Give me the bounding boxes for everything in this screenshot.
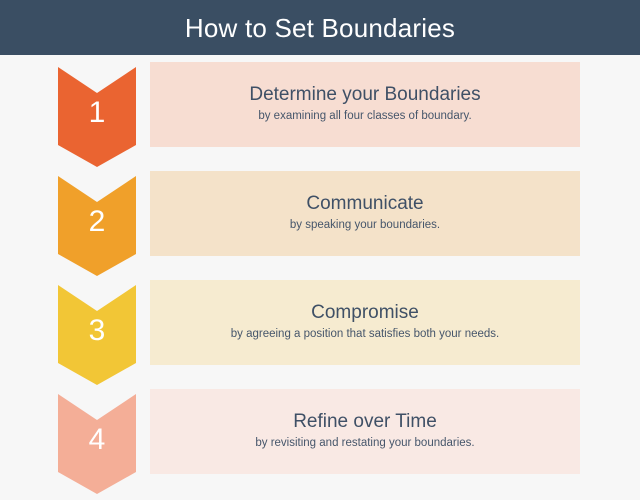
step-panel: Communicate by speaking your boundaries. [150,171,580,256]
chevron-shape [58,67,136,167]
chevron-icon [58,176,136,276]
step-title: Compromise [301,303,429,324]
chevron-shape [58,285,136,385]
step-row: 4 Refine over Time by revisiting and res… [0,382,640,491]
page-title: How to Set Boundaries [185,15,455,41]
chevron-icon [58,67,136,167]
step-subtitle: by revisiting and restating your boundar… [245,437,484,451]
infographic-root: How to Set Boundaries 1 Determine your B… [0,0,640,500]
chevron-icon [58,394,136,494]
step-title: Determine your Boundaries [239,85,490,106]
step-panel: Compromise by agreeing a position that s… [150,280,580,365]
step-title: Communicate [296,194,433,215]
step-title: Refine over Time [283,412,447,433]
step-subtitle: by examining all four classes of boundar… [248,110,481,124]
step-marker-chevron: 2 [58,176,136,276]
header-bar: How to Set Boundaries [0,0,640,55]
step-marker-chevron: 1 [58,67,136,167]
step-panel: Refine over Time by revisiting and resta… [150,389,580,474]
step-subtitle: by speaking your boundaries. [280,219,450,233]
step-panel: Determine your Boundaries by examining a… [150,62,580,147]
step-marker-chevron: 4 [58,394,136,494]
step-row: 1 Determine your Boundaries by examining… [0,55,640,164]
chevron-icon [58,285,136,385]
chevron-shape [58,176,136,276]
chevron-shape [58,394,136,494]
step-subtitle: by agreeing a position that satisfies bo… [221,328,510,342]
steps-list: 1 Determine your Boundaries by examining… [0,55,640,500]
step-marker-chevron: 3 [58,285,136,385]
step-row: 3 Compromise by agreeing a position that… [0,273,640,382]
step-row: 2 Communicate by speaking your boundarie… [0,164,640,273]
